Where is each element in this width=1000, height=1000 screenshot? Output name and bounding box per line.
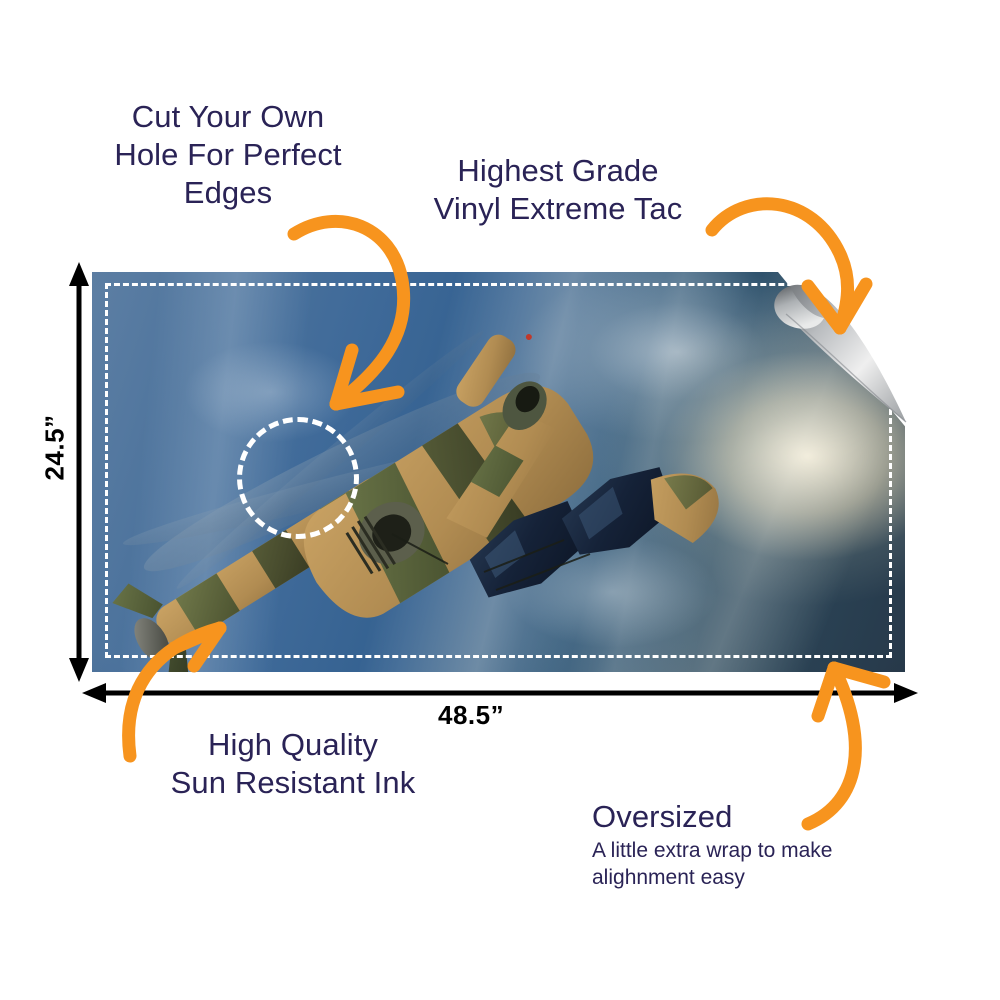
callout-oversized-title: Oversized xyxy=(592,798,732,836)
infographic-canvas: 24.5” 48.5” Cut Your Own Hole For Per xyxy=(0,0,1000,1000)
callout-cut-your-own-hole: Cut Your Own Hole For Perfect Edges xyxy=(78,98,378,211)
height-dimension-label: 24.5” xyxy=(40,414,71,480)
photo-vignette xyxy=(92,272,905,672)
callout-highest-grade-vinyl: Highest Grade Vinyl Extreme Tac xyxy=(398,152,718,228)
vinyl-product-panel xyxy=(92,272,905,672)
oversized-callout-arrow xyxy=(772,652,902,832)
callout-oversized-subtitle: A little extra wrap to make alighnment e… xyxy=(592,838,922,892)
callout-sun-resistant-ink: High Quality Sun Resistant Ink xyxy=(128,726,458,802)
